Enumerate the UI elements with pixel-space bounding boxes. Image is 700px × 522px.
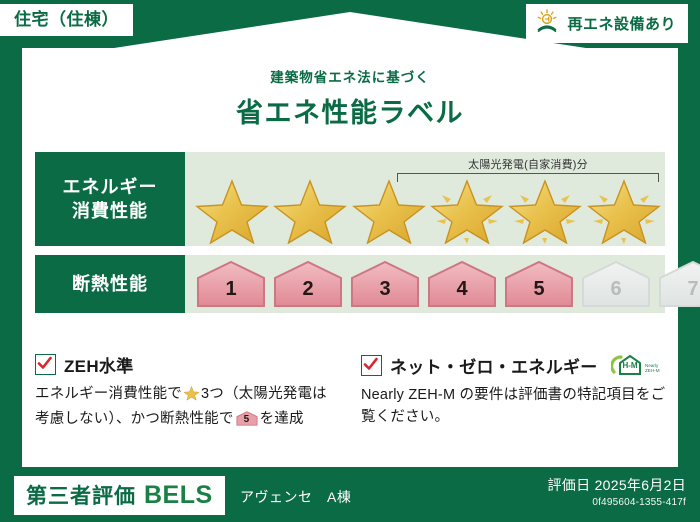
insulation-level-7: 7 <box>657 259 700 309</box>
label-title: 省エネ性能ラベル <box>0 91 700 130</box>
energy-performance-row: エネルギー 消費性能 太陽光発電(自家消費)分 <box>35 152 665 246</box>
insulation-level-2-value: 2 <box>272 279 344 299</box>
insulation-level-4-value: 4 <box>426 279 498 299</box>
check-icon <box>361 355 382 376</box>
solar-sun-icon <box>534 9 560 38</box>
energy-performance-label: 住宅（住棟） 再エネ設備あり 建築物省エネ法に基づく 省エネ性能ラベル <box>0 0 700 522</box>
insulation-level-1-value: 1 <box>195 279 267 299</box>
net-zero-body: Nearly ZEH-M の要件は評価書の特記項目をご覧ください。 <box>361 384 667 429</box>
net-zero-title: ネット・ゼロ・エネルギー <box>390 353 598 378</box>
net-zero-heading: ネット・ゼロ・エネルギー H-M Nearly ZEH-M <box>361 352 667 378</box>
performance-rows: エネルギー 消費性能 太陽光発電(自家消費)分 <box>35 152 665 322</box>
zeh-standard-section: ZEH水準 エネルギー消費性能で3つ（太陽光発電は考慮しない）、かつ断熱性能で5… <box>35 352 341 431</box>
zeh-standard-heading: ZEH水準 <box>35 352 341 377</box>
building-name: アヴェンセ A棟 <box>240 487 351 507</box>
building-type-tag: 住宅（住棟） <box>0 4 133 36</box>
insulation-level-3: 3 <box>349 259 421 309</box>
insulation-level-1: 1 <box>195 259 267 309</box>
insulation-performance-row: 断熱性能 1 2 <box>35 255 665 313</box>
insulation-level-scale: 1 2 3 4 5 <box>195 259 700 309</box>
insulation-level-6-value: 6 <box>580 279 652 299</box>
insulation-level-5: 5 <box>503 259 575 309</box>
insulation-row-body: 1 2 3 4 5 <box>185 255 665 313</box>
insulation-level-6: 6 <box>580 259 652 309</box>
label-subtitle: 建築物省エネ法に基づく <box>0 66 700 86</box>
star-1 <box>193 172 269 244</box>
insulation-level-5-value: 5 <box>503 279 575 299</box>
zeh-m-logo-text: H-M <box>622 361 637 370</box>
star-rating <box>193 172 661 244</box>
insulation-level-3-value: 3 <box>349 279 421 299</box>
inline-star-icon <box>183 384 200 408</box>
zeh-standard-body: エネルギー消費性能で3つ（太陽光発電は考慮しない）、かつ断熱性能で5を達成 <box>35 383 341 431</box>
evaluation-id: 0f495604-1355-417f <box>547 497 686 508</box>
footer-meta: 評価日 2025年6月2日 0f495604-1355-417f <box>547 475 686 508</box>
insulation-row-label: 断熱性能 <box>35 255 185 313</box>
zeh-m-logo-sub2: ZEH-M <box>645 368 660 373</box>
insulation-level-2: 2 <box>272 259 344 309</box>
zeh-body-post: を達成 <box>260 411 304 427</box>
star-2 <box>271 172 347 244</box>
star-5-solar <box>506 172 582 244</box>
bels-label: 第三者評価 <box>26 480 136 510</box>
footer: 第三者評価 BELS アヴェンセ A棟 評価日 2025年6月2日 0f4956… <box>0 467 700 522</box>
energy-row-label: エネルギー 消費性能 <box>35 152 185 246</box>
energy-label-line1: エネルギー <box>63 177 158 197</box>
evaluation-date: 評価日 2025年6月2日 <box>547 475 686 495</box>
star-3 <box>350 172 426 244</box>
solar-bracket-caption: 太陽光発電(自家消費)分 <box>397 156 659 172</box>
bels-badge: 第三者評価 BELS <box>14 476 225 515</box>
bels-mark: BELS <box>144 481 213 510</box>
criteria-sections: ZEH水準 エネルギー消費性能で3つ（太陽光発電は考慮しない）、かつ断熱性能で5… <box>35 352 667 431</box>
renewable-equipment-badge: 再エネ設備あり <box>526 4 688 43</box>
inline-insulation-badge: 5 <box>236 410 258 427</box>
insulation-level-4: 4 <box>426 259 498 309</box>
zeh-body-pre: エネルギー消費性能で <box>35 386 182 402</box>
insulation-level-7-value: 7 <box>657 279 700 299</box>
check-icon <box>35 354 56 375</box>
net-zero-energy-section: ネット・ゼロ・エネルギー H-M Nearly ZEH-M Nearly ZEH… <box>361 352 667 431</box>
renewable-badge-label: 再エネ設備あり <box>567 13 676 34</box>
energy-row-body: 太陽光発電(自家消費)分 <box>185 152 665 246</box>
title-block: 建築物省エネ法に基づく 省エネ性能ラベル <box>0 66 700 130</box>
star-4-solar <box>428 172 504 244</box>
inline-badge-value: 5 <box>236 415 258 425</box>
star-6-solar <box>585 172 661 244</box>
energy-label-line2: 消費性能 <box>72 201 148 221</box>
zeh-standard-title: ZEH水準 <box>64 352 134 377</box>
zeh-m-logo: H-M Nearly ZEH-M <box>611 352 663 378</box>
